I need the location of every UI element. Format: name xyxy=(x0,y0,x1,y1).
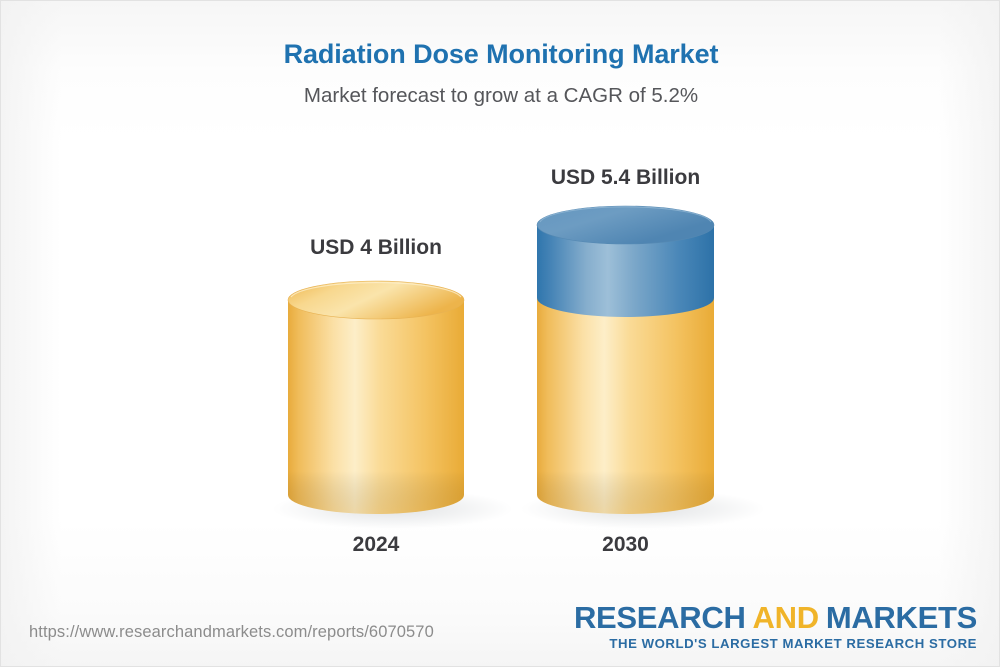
bar-2024-top-cap xyxy=(288,281,464,319)
source-url[interactable]: https://www.researchandmarkets.com/repor… xyxy=(29,623,434,642)
brand-logo-word-markets: MARKETS xyxy=(826,600,977,635)
bar-2024-base-shade xyxy=(288,471,464,514)
brand-logo-word-research: RESEARCH xyxy=(574,600,746,635)
chart-canvas: Radiation Dose Monitoring Market Market … xyxy=(0,0,1000,667)
bar-2024[interactable] xyxy=(288,281,464,514)
brand-logo-wordmark: RESEARCHANDMARKETS xyxy=(574,602,977,634)
chart-header: Radiation Dose Monitoring Market Market … xyxy=(1,37,1000,110)
chart-title: Radiation Dose Monitoring Market xyxy=(1,37,1000,71)
brand-logo-word-and: AND xyxy=(746,600,826,635)
bar-2030-base-shade xyxy=(537,471,714,514)
chart-subtitle: Market forecast to grow at a CAGR of 5.2… xyxy=(1,82,1000,110)
brand-logo-tagline: THE WORLD'S LARGEST MARKET RESEARCH STOR… xyxy=(574,636,977,652)
brand-logo[interactable]: RESEARCHANDMARKETS THE WORLD'S LARGEST M… xyxy=(574,602,977,652)
bar-2030[interactable] xyxy=(537,206,714,514)
